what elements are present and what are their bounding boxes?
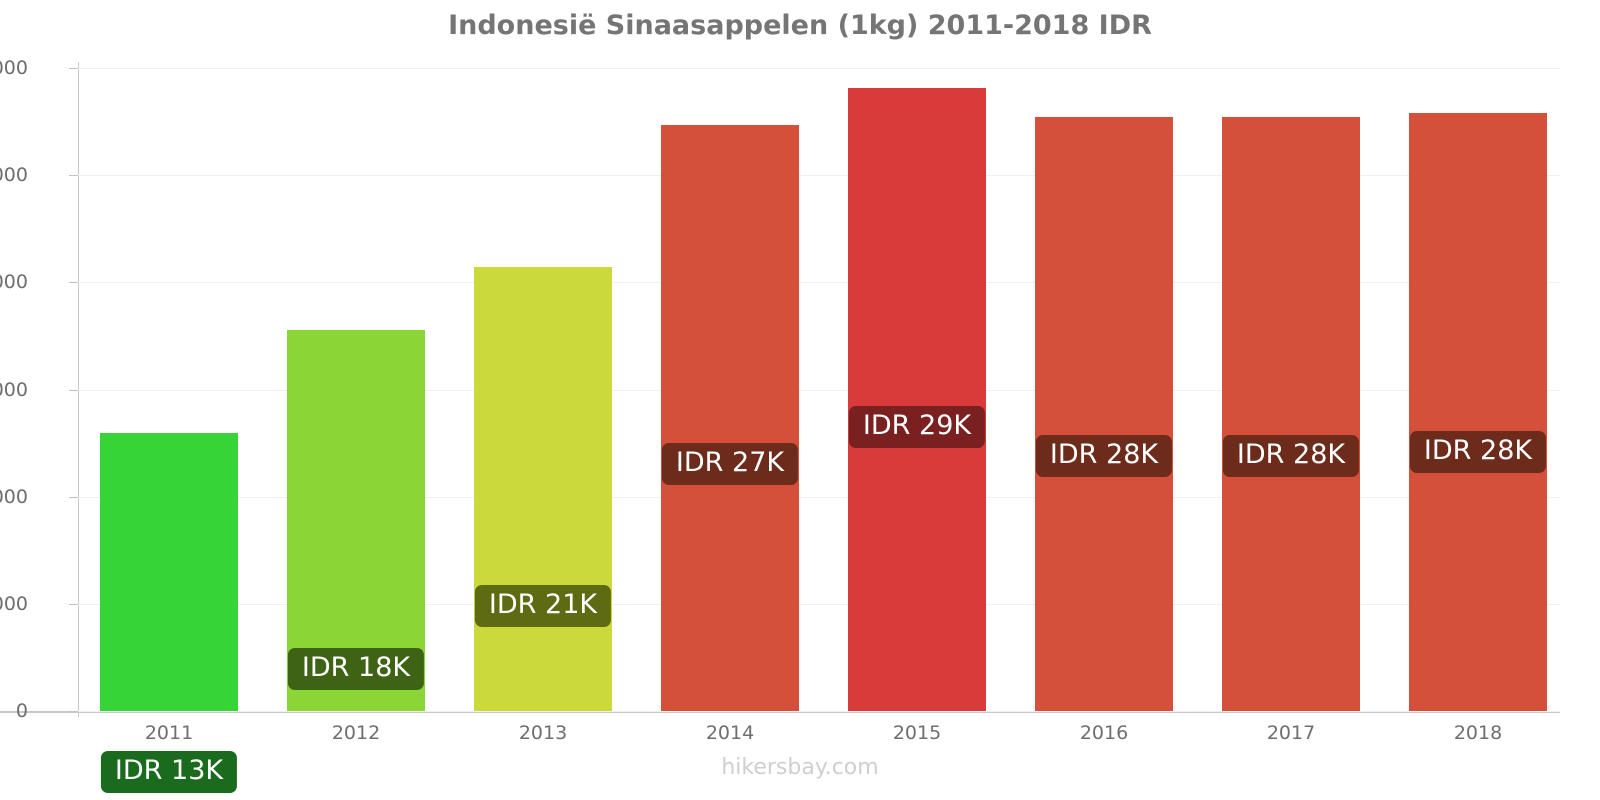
y-axis-tick-label: 0 xyxy=(0,700,28,722)
y-tick-mark xyxy=(69,604,78,605)
bar-value-label: IDR 21K xyxy=(475,585,611,627)
x-axis-tick-label-2018: 2018 xyxy=(1409,722,1547,744)
gridline xyxy=(78,68,1560,69)
bar-2011[interactable]: IDR 13K xyxy=(100,433,238,711)
y-tick-mark xyxy=(69,497,78,498)
bar-2018[interactable]: IDR 28K xyxy=(1409,113,1547,711)
y-tick-mark xyxy=(69,68,78,69)
x-axis-tick-label-2017: 2017 xyxy=(1222,722,1360,744)
x-axis-tick-label-2016: 2016 xyxy=(1035,722,1173,744)
y-tick-mark xyxy=(69,390,78,391)
x-axis-tick-label-2011: 2011 xyxy=(100,722,238,744)
y-tick-mark xyxy=(69,282,78,283)
bar-value-label: IDR 28K xyxy=(1036,435,1172,477)
x-axis-tick-label-2014: 2014 xyxy=(661,722,799,744)
x-axis-tick-label-2013: 2013 xyxy=(474,722,612,744)
bar-2015[interactable]: IDR 29K xyxy=(848,88,986,711)
x-axis-tick-label-2015: 2015 xyxy=(848,722,986,744)
bar-2016[interactable]: IDR 28K xyxy=(1035,117,1173,711)
bar-value-label: IDR 18K xyxy=(288,648,424,690)
bar-value-label: IDR 28K xyxy=(1223,435,1359,477)
bar-2012[interactable]: IDR 18K xyxy=(287,330,425,712)
chart-container: Indonesië Sinaasappelen (1kg) 2011-2018 … xyxy=(0,0,1600,800)
y-axis-tick-label: 15000 xyxy=(0,379,28,401)
gridline xyxy=(78,711,1560,712)
bar-value-label: IDR 27K xyxy=(662,443,798,485)
y-axis-tick-label: 20000 xyxy=(0,271,28,293)
y-axis-tick-label: 25000 xyxy=(0,164,28,186)
x-axis-tick-label-2012: 2012 xyxy=(287,722,425,744)
bar-2013[interactable]: IDR 21K xyxy=(474,267,612,711)
y-axis-tick-label: 30000 xyxy=(0,57,28,79)
bar-value-label: IDR 28K xyxy=(1410,431,1546,473)
chart-title: Indonesië Sinaasappelen (1kg) 2011-2018 … xyxy=(0,10,1600,41)
y-axis-tick-label: 10000 xyxy=(0,486,28,508)
footer-watermark: hikersbay.com xyxy=(0,755,1600,780)
bar-value-label: IDR 29K xyxy=(849,406,985,448)
plot-area: 050001000015000200002500030000IDR 13KIDR… xyxy=(78,68,1560,711)
bar-2017[interactable]: IDR 28K xyxy=(1222,117,1360,711)
bar-2014[interactable]: IDR 27K xyxy=(661,125,799,711)
y-tick-mark xyxy=(69,711,78,712)
y-axis-tick-label: 5000 xyxy=(0,593,28,615)
y-tick-mark xyxy=(69,175,78,176)
